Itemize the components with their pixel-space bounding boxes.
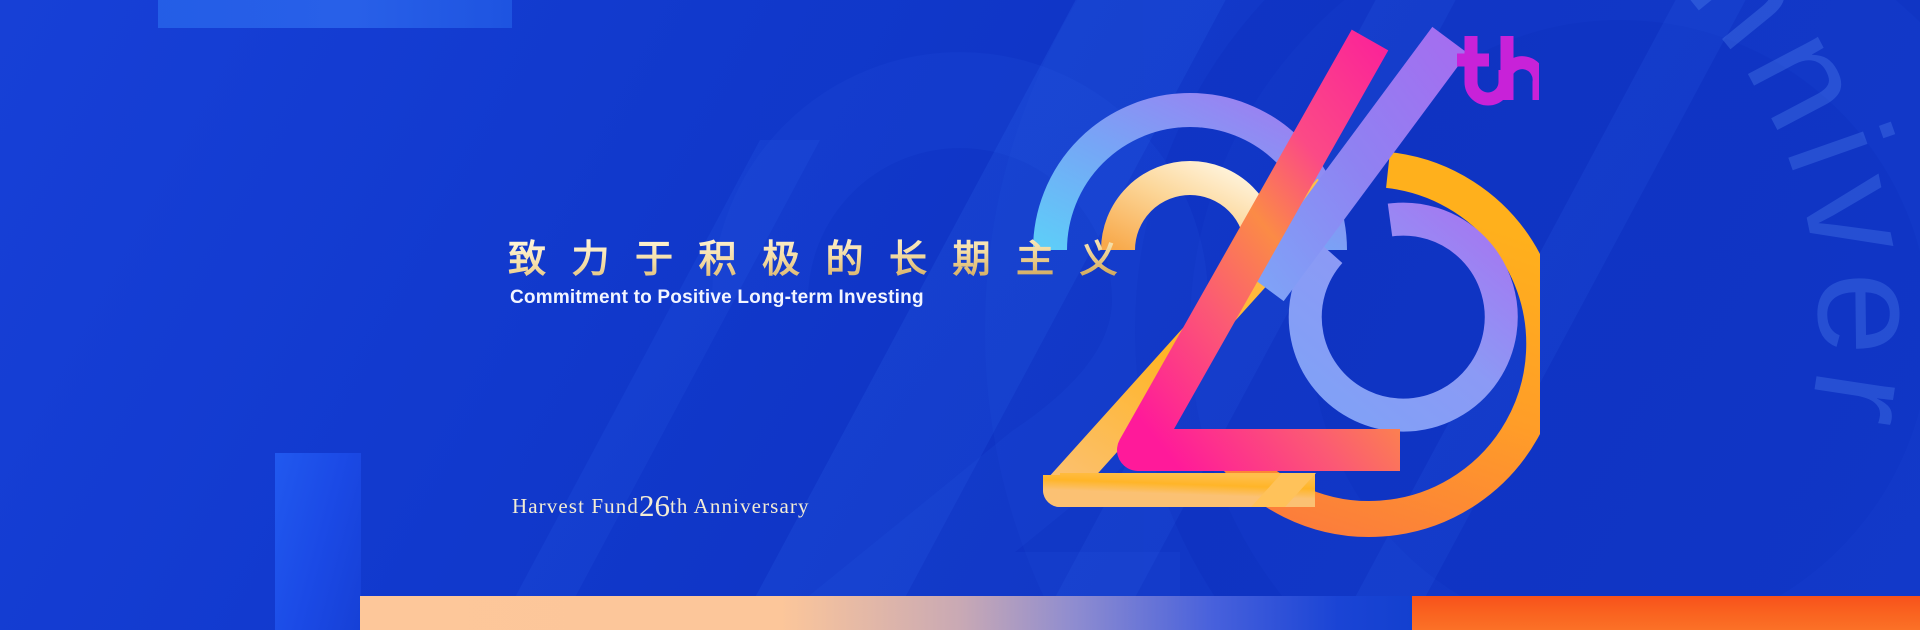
anniversary-prefix: Harvest Fund bbox=[512, 494, 639, 518]
decor-left-block bbox=[275, 453, 361, 630]
anniversary-suffix: th Anniversary bbox=[670, 494, 810, 518]
anniversary-number: 26 bbox=[639, 488, 670, 523]
bottom-orange-bar bbox=[1412, 596, 1920, 630]
headline-english: Commitment to Positive Long-term Investi… bbox=[510, 287, 924, 309]
decor-top-band bbox=[158, 0, 512, 28]
headline-chinese: 致 力 于 积 极 的 长 期 主 义 bbox=[508, 228, 1126, 283]
anniversary-banner: nniver bbox=[0, 0, 1920, 630]
anniversary-caption: Harvest Fund26th Anniversary bbox=[512, 485, 810, 521]
logo-th-superscript bbox=[1449, 30, 1539, 110]
bottom-gradient-bar bbox=[360, 596, 1412, 630]
